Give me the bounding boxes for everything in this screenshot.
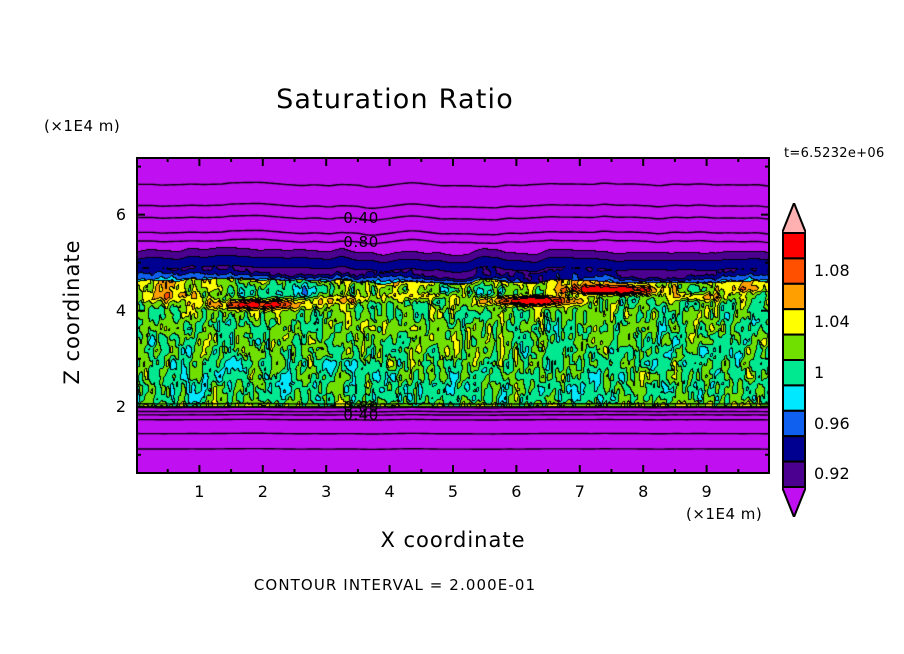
x-axis-unit-label: (×1E4 m)	[686, 505, 762, 523]
x-tick-label: 7	[565, 482, 595, 501]
colorbar-band	[783, 462, 805, 487]
colorbar-tick-label: 1	[814, 363, 824, 382]
colorbar-band	[783, 411, 805, 436]
contour-plot-area	[136, 157, 770, 474]
time-annotation: t=6.5232e+06	[784, 146, 885, 161]
colorbar-band	[783, 309, 805, 334]
colorbar-band	[783, 436, 805, 461]
x-tick-label: 9	[692, 482, 722, 501]
x-tick-label: 2	[248, 482, 278, 501]
colorbar-band	[783, 233, 805, 258]
colorbar-tick-label: 1.04	[814, 312, 850, 331]
x-tick-label: 5	[438, 482, 468, 501]
contour-value-label: 0.80	[334, 233, 388, 251]
colorbar-band	[783, 335, 805, 360]
colorbar-band	[783, 258, 805, 283]
contour-figure: Saturation Ratio (×1E4 m) (×1E4 m) t=6.5…	[0, 0, 904, 654]
colorbar-tick-label: 0.92	[814, 464, 850, 483]
colorbar-bottom-cap	[782, 487, 806, 517]
y-tick-label: 6	[96, 205, 126, 224]
x-tick-label: 8	[628, 482, 658, 501]
x-tick-label: 6	[501, 482, 531, 501]
colorbar-swatches	[782, 203, 806, 517]
x-tick-label: 4	[375, 482, 405, 501]
colorbar-tick-label: 0.96	[814, 414, 850, 433]
contour-value-label: 0.40	[334, 406, 388, 424]
y-tick-label: 4	[96, 301, 126, 320]
x-tick-label: 1	[184, 482, 214, 501]
x-tick-label: 3	[311, 482, 341, 501]
y-axis-unit-label: (×1E4 m)	[44, 117, 120, 135]
contour-interval-caption: CONTOUR INTERVAL = 2.000E-01	[0, 576, 790, 594]
colorbar-top-cap	[782, 203, 806, 233]
colorbar-band	[783, 385, 805, 410]
contour-value-label: 0.40	[334, 209, 388, 227]
y-tick-label: 2	[96, 397, 126, 416]
contour-field-canvas	[136, 157, 770, 474]
page-title: Saturation Ratio	[0, 84, 790, 115]
colorbar-tick-label: 1.08	[814, 261, 850, 280]
x-axis-title: X coordinate	[136, 528, 770, 552]
colorbar	[782, 203, 806, 517]
colorbar-band	[783, 360, 805, 385]
colorbar-band	[783, 284, 805, 309]
y-axis-title: Z coordinate	[60, 212, 84, 412]
